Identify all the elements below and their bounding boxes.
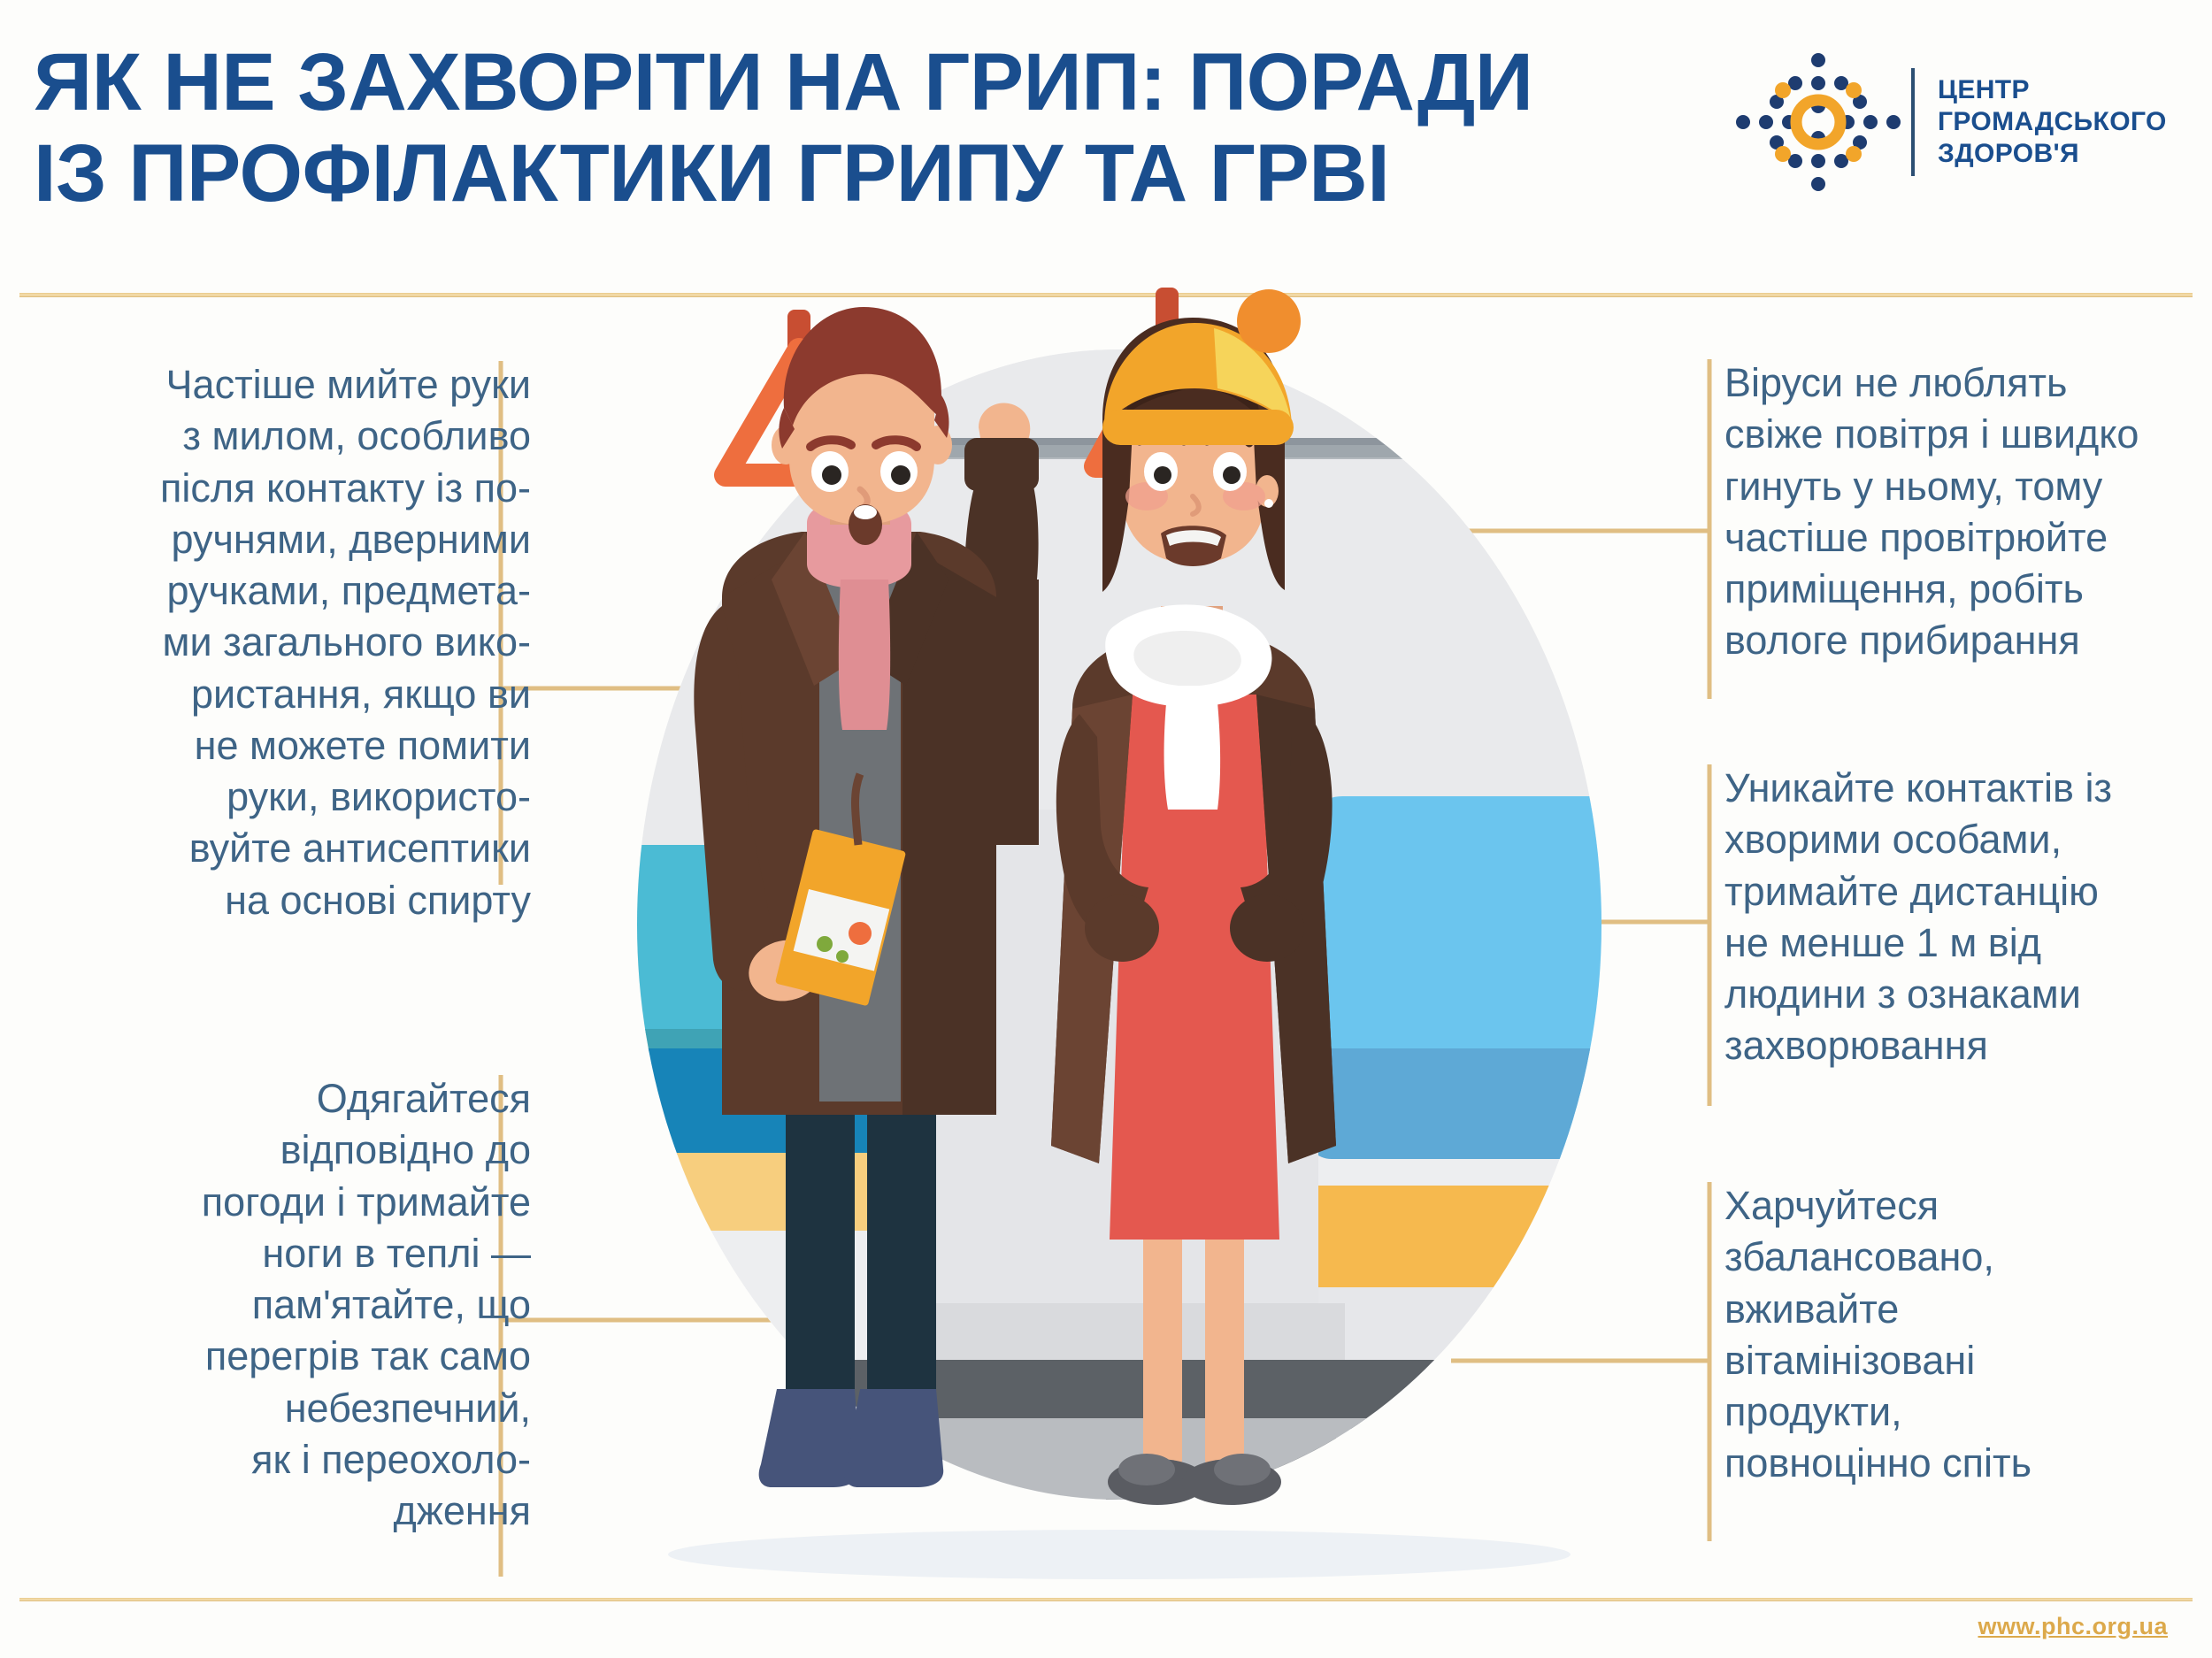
- brand-name-line-2: ГРОМАДСЬКОГО: [1938, 106, 2167, 138]
- header-divider: [19, 293, 2193, 297]
- tip-line: не можете помити: [35, 720, 531, 771]
- tip-line: ноги в теплі —: [88, 1228, 531, 1279]
- tip-line: на основі спирту: [35, 875, 531, 926]
- tip-ventilation: Віруси не люблять свіже повітря і швидко…: [1724, 357, 2202, 667]
- tip-line: ручнями, дверними: [35, 514, 531, 565]
- tip-line: погоди і тримайте: [88, 1177, 531, 1228]
- tip-line: руки, використо-: [35, 771, 531, 823]
- tip-line: Віруси не люблять: [1724, 357, 2202, 409]
- tip-line: людини з ознаками: [1724, 969, 2202, 1020]
- page-title-line-1: ЯК НЕ ЗАХВОРІТИ НА ГРИП: ПОРАДИ: [34, 37, 1697, 128]
- tip-dress: Одягайтеся відповідно до погоди і тримай…: [88, 1073, 531, 1537]
- tip-line: вологе прибирання: [1724, 615, 2202, 666]
- tip-line: повноцінно спіть: [1724, 1438, 2202, 1489]
- tip-line: ристання, якщо ви: [35, 669, 531, 720]
- tip-line: з милом, особливо: [35, 411, 531, 462]
- tip-line: перегрів так само: [88, 1331, 531, 1382]
- tip-line: як і переохоло-: [88, 1434, 531, 1485]
- tip-line: відповідно до: [88, 1125, 531, 1176]
- tip-line: вуйте антисептики: [35, 823, 531, 874]
- tip-line: Одягайтеся: [88, 1073, 531, 1125]
- tip-line: після контакту із по-: [35, 463, 531, 514]
- brand-name-line-3: ЗДОРОВ'Я: [1938, 138, 2167, 170]
- tip-line: дження: [88, 1485, 531, 1537]
- tip-line: продукти,: [1724, 1386, 2202, 1438]
- footer-divider: [19, 1598, 2193, 1601]
- tip-line: Харчуйтеся: [1724, 1180, 2202, 1232]
- tip-line: Частіше мийте руки: [35, 359, 531, 411]
- tip-line: гинуть у ньому, тому: [1724, 461, 2202, 512]
- tip-line: вживайте: [1724, 1284, 2202, 1335]
- tip-nutrition: Харчуйтеся збалансовано, вживайте вітамі…: [1724, 1180, 2202, 1490]
- tip-line: пам'ятайте, що: [88, 1279, 531, 1331]
- brand-name: ЦЕНТР ГРОМАДСЬКОГО ЗДОРОВ'Я: [1938, 74, 2167, 170]
- tip-line: не менше 1 м від: [1724, 917, 2202, 969]
- brand-lockup: ЦЕНТР ГРОМАДСЬКОГО ЗДОРОВ'Я: [1734, 51, 2177, 193]
- tip-line: захворювання: [1724, 1020, 2202, 1071]
- page-title: ЯК НЕ ЗАХВОРІТИ НА ГРИП: ПОРАДИ ІЗ ПРОФІ…: [34, 37, 1697, 219]
- tip-line: Уникайте контактів із: [1724, 763, 2202, 814]
- page-header: ЯК НЕ ЗАХВОРІТИ НА ГРИП: ПОРАДИ ІЗ ПРОФІ…: [0, 0, 2212, 295]
- tip-line: збалансовано,: [1724, 1232, 2202, 1283]
- tip-line: тримайте дистанцію: [1724, 866, 2202, 917]
- tip-line: ручками, предмета-: [35, 565, 531, 617]
- tip-line: приміщення, робіть: [1724, 564, 2202, 615]
- brand-divider: [1911, 68, 1915, 176]
- brand-name-line-1: ЦЕНТР: [1938, 74, 2167, 106]
- dot-sun-logo-icon: [1734, 51, 1902, 193]
- page-title-line-2: ІЗ ПРОФІЛАКТИКИ ГРИПУ ТА ГРВІ: [34, 128, 1697, 219]
- tip-line: небезпечний,: [88, 1383, 531, 1434]
- tip-avoid-contact: Уникайте контактів із хворими особами, т…: [1724, 763, 2202, 1072]
- tip-line: ми загального вико-: [35, 617, 531, 668]
- tip-line: свіже повітря і швидко: [1724, 409, 2202, 460]
- tip-line: частіше провітрюйте: [1724, 512, 2202, 564]
- tip-line: хворими особами,: [1724, 814, 2202, 865]
- tip-line: вітамінізовані: [1724, 1335, 2202, 1386]
- tip-handwash: Частіше мийте руки з милом, особливо піс…: [35, 359, 531, 926]
- illustration-subway-scene: [549, 314, 1690, 1579]
- infographic-root: ЯК НЕ ЗАХВОРІТИ НА ГРИП: ПОРАДИ ІЗ ПРОФІ…: [0, 0, 2212, 1658]
- footer-website-link[interactable]: www.phc.org.ua: [1978, 1613, 2168, 1640]
